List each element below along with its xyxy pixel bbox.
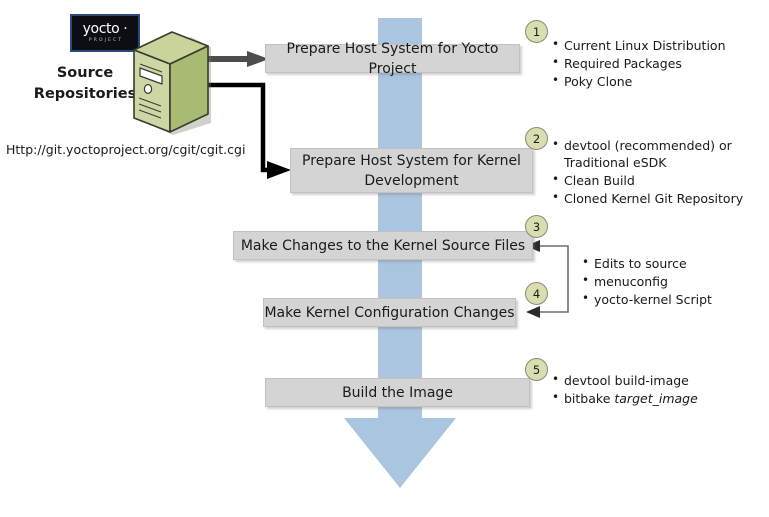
note-item-bitbake: bitbake target_image	[552, 390, 757, 407]
note-item: Poky Clone	[552, 73, 762, 90]
notes-steps-3-and-4: Edits to source menuconfig yocto-kernel …	[582, 255, 762, 309]
step-number-4: 4	[525, 282, 548, 305]
note-bitbake-target: target_image	[614, 391, 697, 406]
server-icon	[128, 28, 212, 136]
notes-step-5: devtool build-image bitbake target_image	[552, 372, 757, 408]
process-box-prepare-host-yocto[interactable]: Prepare Host System for Yocto Project	[265, 44, 520, 73]
note-bitbake-command: bitbake	[564, 391, 614, 406]
step-number-2: 2	[525, 127, 548, 150]
notes-step-1: Current Linux Distribution Required Pack…	[552, 37, 762, 91]
note-item: Required Packages	[552, 55, 762, 72]
process-box-make-config-changes[interactable]: Make Kernel Configuration Changes	[263, 298, 516, 327]
note-item: Clean Build	[552, 172, 764, 189]
step-number-1: 1	[525, 20, 548, 43]
note-item: Edits to source	[582, 255, 762, 272]
connector-notes-to-box3-and-box4	[524, 236, 584, 322]
process-box-prepare-host-kernel[interactable]: Prepare Host System for Kernel Developme…	[290, 148, 533, 193]
yocto-logo-word: yocto ·	[83, 23, 128, 36]
yocto-logo-subtitle: PROJECT	[89, 37, 123, 44]
step-number-5: 5	[525, 358, 548, 381]
process-box-build-image[interactable]: Build the Image	[265, 378, 530, 407]
source-repository-url: Http://git.yoctoproject.org/cgit/cgit.cg…	[6, 142, 245, 157]
note-item: yocto-kernel Script	[582, 291, 762, 308]
note-item: devtool (recommended) or Traditional eSD…	[552, 137, 764, 171]
step-number-3: 3	[525, 215, 548, 238]
note-item: menuconfig	[582, 273, 762, 290]
source-repositories-label: Source Repositories	[26, 63, 144, 105]
process-box-make-source-changes[interactable]: Make Changes to the Kernel Source Files	[233, 231, 533, 260]
connector-server-to-box2	[205, 80, 300, 180]
notes-step-2: devtool (recommended) or Traditional eSD…	[552, 137, 764, 208]
note-item: Current Linux Distribution	[552, 37, 762, 54]
note-item: Cloned Kernel Git Repository	[552, 190, 764, 207]
note-item: devtool build-image	[552, 372, 757, 389]
